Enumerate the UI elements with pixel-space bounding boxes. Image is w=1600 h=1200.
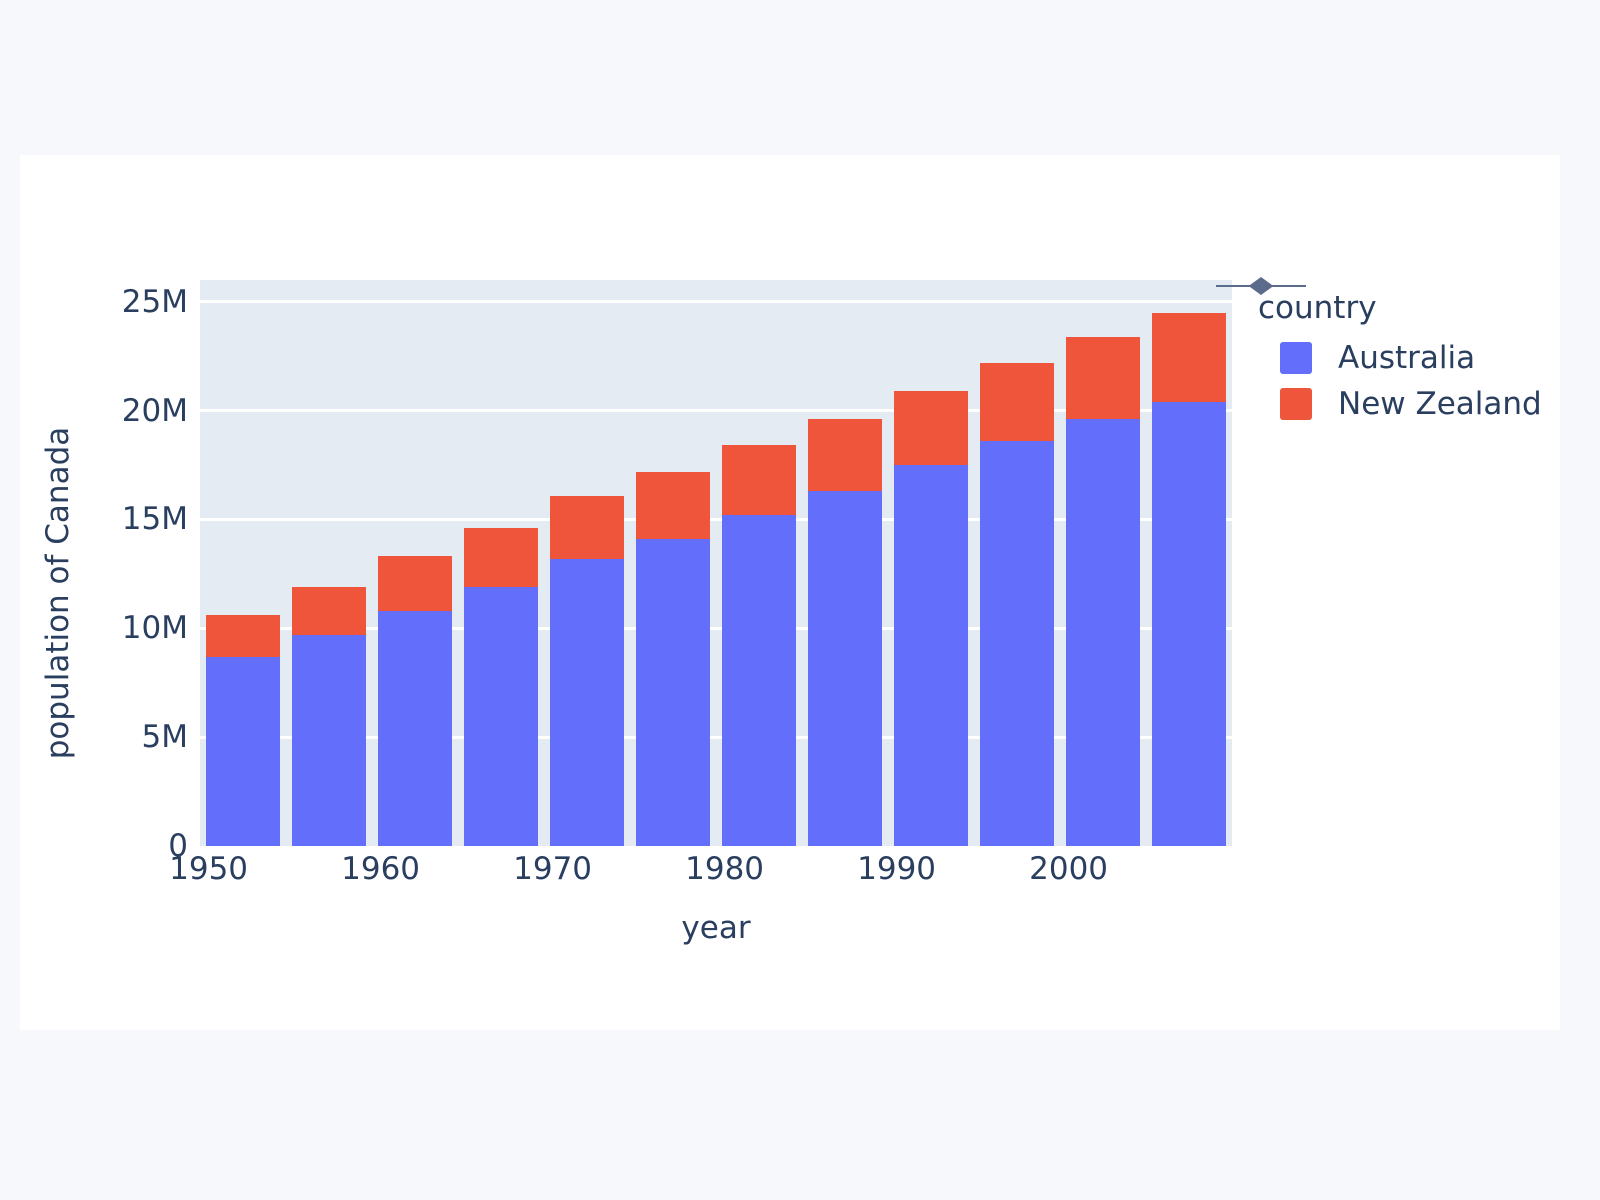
bar-segment-australia[interactable] <box>894 465 968 846</box>
x-axis-tick-label: 1950 <box>169 851 248 887</box>
bar-segment-new-zealand[interactable] <box>550 496 624 559</box>
y-axis-tick-mark <box>190 627 200 630</box>
bar-segment-new-zealand[interactable] <box>1066 337 1140 420</box>
bar-stack[interactable] <box>464 528 538 846</box>
y-axis-tick-label: 25M <box>28 284 188 320</box>
x-axis-tick-label: 1980 <box>685 851 764 887</box>
bar-segment-australia[interactable] <box>1066 419 1140 846</box>
legend-swatch <box>1280 388 1312 420</box>
y-axis-tick-mark <box>190 300 200 303</box>
bar-segment-australia[interactable] <box>378 611 452 846</box>
bar-segment-new-zealand[interactable] <box>206 615 280 656</box>
bar-segment-new-zealand[interactable] <box>636 472 710 539</box>
bar-segment-australia[interactable] <box>636 539 710 846</box>
bar-segment-australia[interactable] <box>808 491 882 846</box>
legend-title: country <box>1258 290 1548 326</box>
bar-segment-new-zealand[interactable] <box>808 419 882 491</box>
bar-segment-australia[interactable] <box>206 657 280 846</box>
plotly-figure: 05M10M15M20M25M population of Canada 195… <box>20 155 1560 1030</box>
bar-stack[interactable] <box>1066 337 1140 846</box>
plot-area[interactable] <box>200 280 1232 846</box>
x-axis-title: year <box>200 910 1232 946</box>
bar-segment-australia[interactable] <box>722 515 796 846</box>
bar-stack[interactable] <box>378 556 452 846</box>
bar-stack[interactable] <box>894 391 968 846</box>
bar-segment-australia[interactable] <box>464 587 538 846</box>
legend-label: Australia <box>1338 340 1475 376</box>
y-axis-tick-label: 0 <box>28 828 188 864</box>
bar-stack[interactable] <box>292 587 366 846</box>
bar-segment-new-zealand[interactable] <box>378 556 452 610</box>
bar-segment-new-zealand[interactable] <box>464 528 538 587</box>
bar-segment-australia[interactable] <box>292 635 366 846</box>
bar-segment-new-zealand[interactable] <box>1152 313 1226 402</box>
bar-segment-australia[interactable] <box>550 559 624 846</box>
bar-segment-australia[interactable] <box>1152 402 1226 846</box>
y-axis-title: population of Canada <box>40 378 76 808</box>
bar-stack[interactable] <box>206 615 280 846</box>
legend-swatch <box>1280 342 1312 374</box>
legend-item-australia[interactable]: Australia <box>1280 340 1548 376</box>
bar-stack[interactable] <box>636 472 710 846</box>
y-axis-tick-mark <box>190 409 200 412</box>
bar-stack[interactable] <box>550 496 624 846</box>
y-axis-tick-mark <box>190 845 200 848</box>
y-axis-tick-mark <box>190 518 200 521</box>
bar-segment-new-zealand[interactable] <box>722 445 796 515</box>
legend: country AustraliaNew Zealand <box>1258 290 1548 432</box>
x-axis-tick-label: 1970 <box>513 851 592 887</box>
bar-segment-new-zealand[interactable] <box>292 587 366 635</box>
legend-items: AustraliaNew Zealand <box>1258 340 1548 422</box>
x-axis-tick-label: 1990 <box>857 851 936 887</box>
bar-stack[interactable] <box>808 419 882 846</box>
bar-stack[interactable] <box>722 445 796 846</box>
x-axis-tick-label: 2000 <box>1029 851 1108 887</box>
bar-segment-new-zealand[interactable] <box>980 363 1054 441</box>
bar-segment-new-zealand[interactable] <box>894 391 968 465</box>
bar-stack[interactable] <box>980 363 1054 846</box>
x-axis-tick-label: 1960 <box>341 851 420 887</box>
legend-label: New Zealand <box>1338 386 1542 422</box>
legend-item-new-zealand[interactable]: New Zealand <box>1280 386 1548 422</box>
bar-segment-australia[interactable] <box>980 441 1054 846</box>
bar-stack[interactable] <box>1152 313 1226 846</box>
y-axis-tick-mark <box>190 736 200 739</box>
gridline <box>200 300 1232 303</box>
